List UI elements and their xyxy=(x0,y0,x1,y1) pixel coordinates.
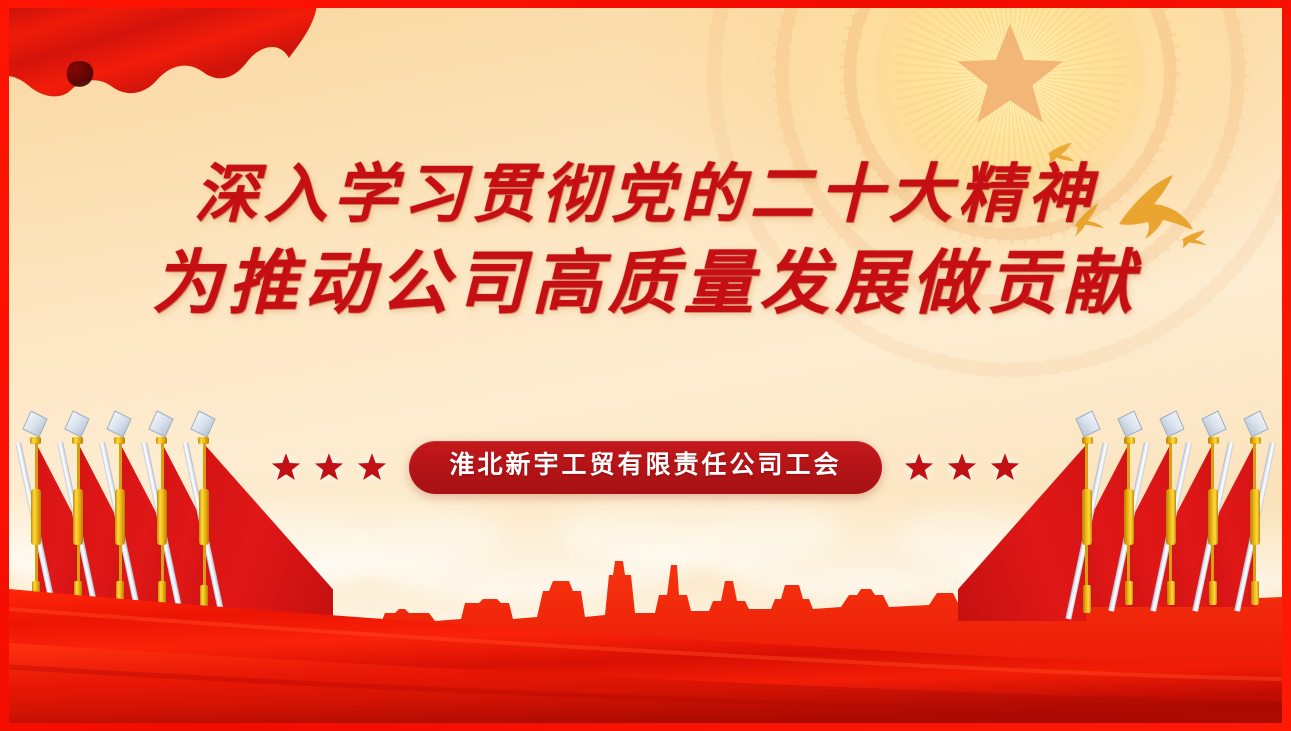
subtitle-row: 淮北新宇工贸有限责任公司工会 xyxy=(9,441,1282,494)
organization-banner: 淮北新宇工贸有限责任公司工会 xyxy=(409,441,881,494)
silk-curl-shape xyxy=(67,61,94,87)
headline-line-2: 为推动公司高质量发展做贡献 xyxy=(9,242,1282,328)
star-group-right xyxy=(904,452,1020,482)
star-icon xyxy=(314,452,344,482)
silk-drape-shape xyxy=(9,8,317,96)
emblem-five-point-star-icon xyxy=(950,14,1070,134)
poster-artwork-area: 深入学习贯彻党的二十大精神 为推动公司高质量发展做贡献 淮北新宇工贸有限责任公司… xyxy=(9,8,1282,723)
star-icon xyxy=(904,452,934,482)
red-triangular-flag-cluster-icon xyxy=(9,389,333,639)
poster-headline: 深入学习贯彻党的二十大精神 为推动公司高质量发展做贡献 xyxy=(9,156,1282,328)
organization-name-label: 淮北新宇工贸有限责任公司工会 xyxy=(449,452,841,479)
star-icon xyxy=(357,452,387,482)
star-icon xyxy=(990,452,1020,482)
star-icon xyxy=(947,452,977,482)
star-icon xyxy=(271,452,301,482)
star-group-left xyxy=(271,452,387,482)
red-triangular-flag-cluster-icon xyxy=(958,389,1282,639)
poster-canvas: 深入学习贯彻党的二十大精神 为推动公司高质量发展做贡献 淮北新宇工贸有限责任公司… xyxy=(0,0,1291,731)
red-silk-drape-icon xyxy=(9,8,347,126)
headline-line-1: 深入学习贯彻党的二十大精神 xyxy=(9,156,1282,234)
